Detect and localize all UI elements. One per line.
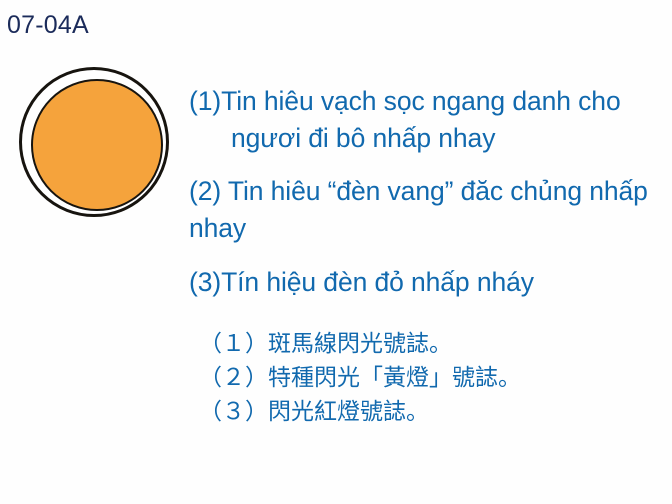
page-title: 07-04A <box>7 13 89 38</box>
signal-amber-disc-icon <box>31 79 163 211</box>
vietnamese-item-1: (1)Tin hiêu vạch sọc ngang danh cho ngươ… <box>189 83 661 157</box>
chinese-line-1: （１）斑馬線閃光號誌。 <box>199 327 661 361</box>
chinese-text-block: （１）斑馬線閃光號誌。 （２）特種閃光「黃燈」號誌。 （３）閃光紅燈號誌。 <box>189 327 661 429</box>
chinese-line-3: （３）閃光紅燈號誌。 <box>199 395 661 429</box>
chinese-line-2: （２）特種閃光「黃燈」號誌。 <box>199 361 661 395</box>
description-text-column: (1)Tin hiêu vạch sọc ngang danh cho ngươ… <box>189 83 661 429</box>
signal-outer-ring-icon <box>19 67 169 217</box>
flashing-signal-disc-figure <box>19 67 169 217</box>
vietnamese-item-3: (3)Tín hiệu đèn đỏ nhấp nháy <box>189 264 661 301</box>
vietnamese-item-2: (2) Tin hiêu “đèn vang” đăc chủng nhấp n… <box>189 173 661 247</box>
slide-page: 07-04A (1)Tin hiêu vạch sọc ngang danh c… <box>0 0 672 504</box>
